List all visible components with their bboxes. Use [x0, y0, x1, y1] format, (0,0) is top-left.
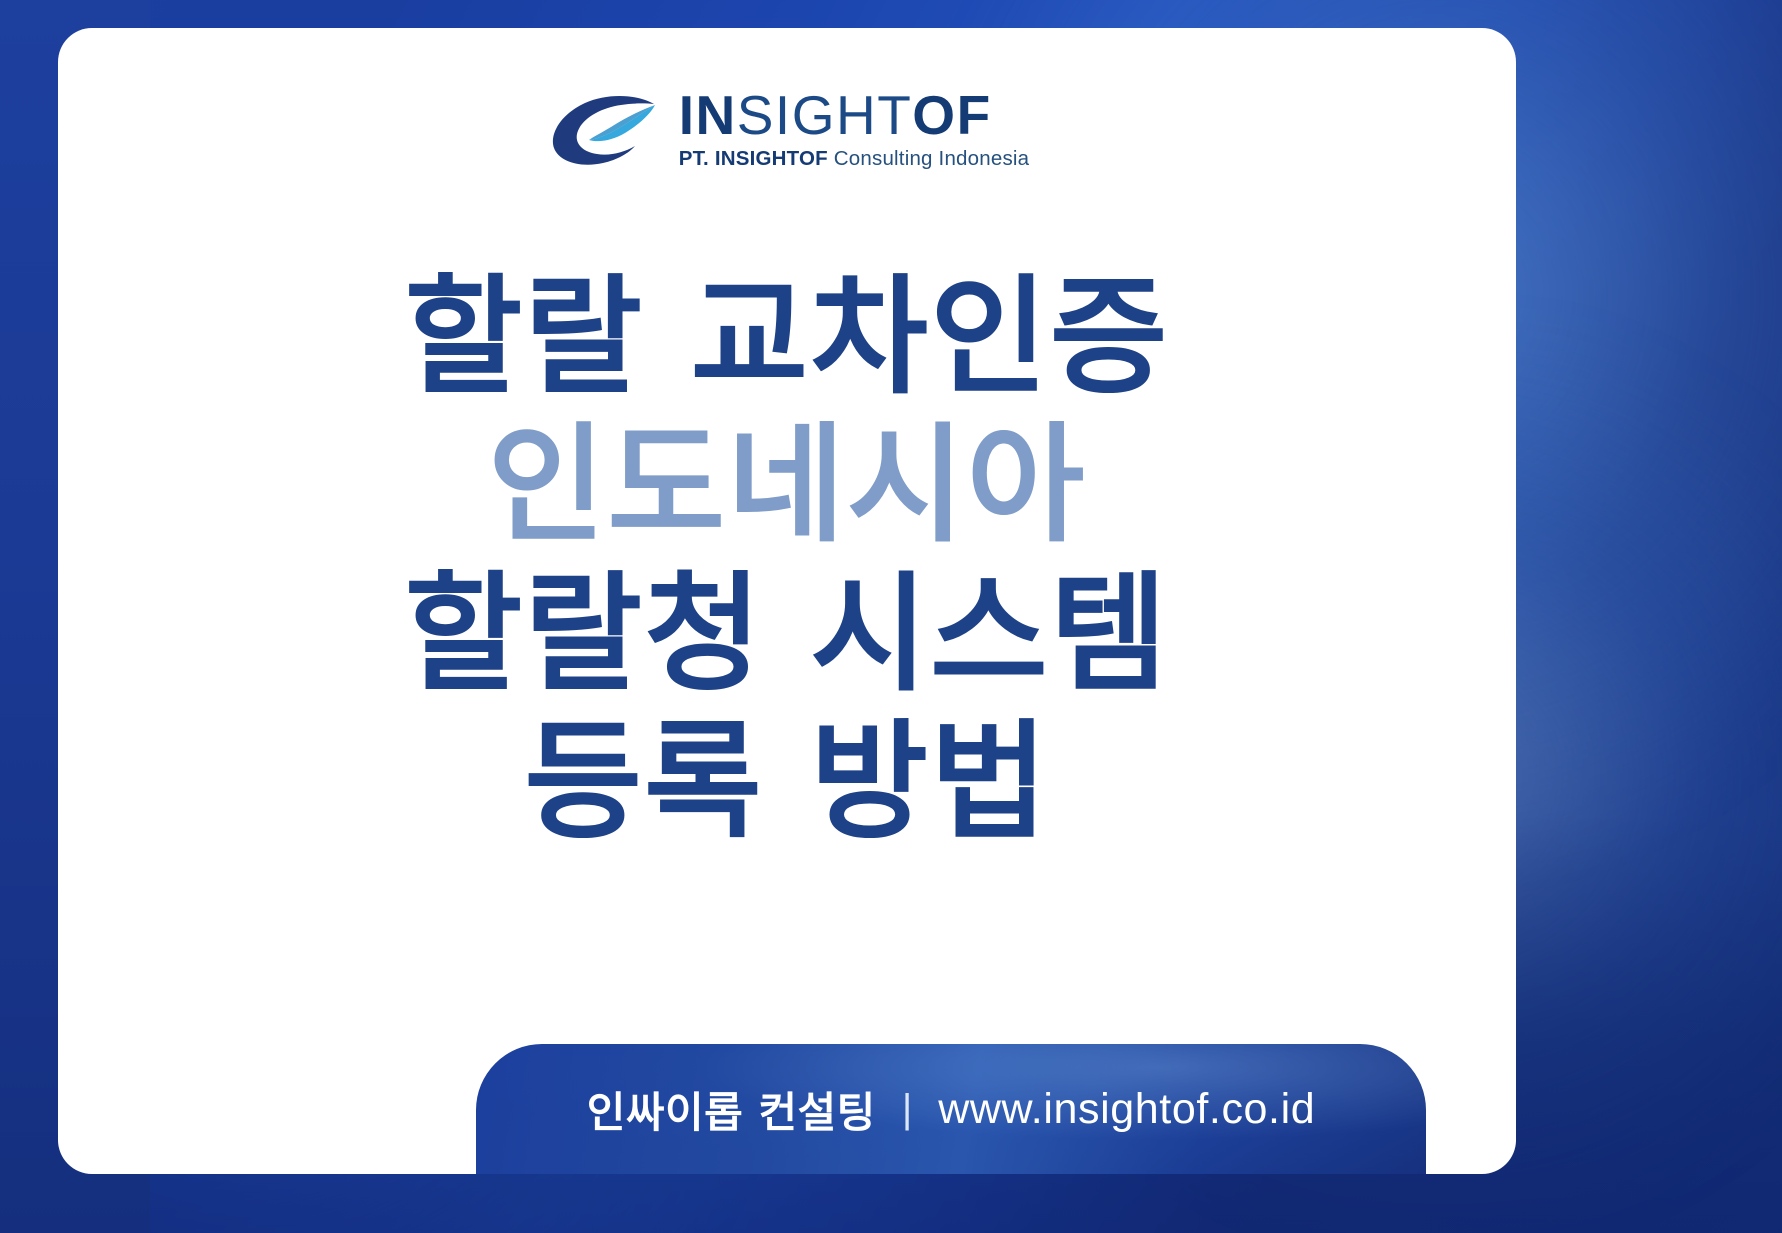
- footer-company-name: 인싸이롭 컨설팅: [587, 1079, 876, 1140]
- logo-tagline: PT. INSIGHTOF Consulting Indonesia: [679, 149, 1030, 170]
- headline-line-2: 인도네시아: [58, 412, 1516, 560]
- poster-canvas: INSIGHTOF PT. INSIGHTOF Consulting Indon…: [0, 0, 1782, 1233]
- headline-line-3: 할랄청 시스템: [58, 561, 1516, 709]
- leaf-swoosh-icon: [545, 86, 663, 172]
- brand-logo: INSIGHTOF PT. INSIGHTOF Consulting Indon…: [58, 86, 1516, 172]
- logo-wordmark: INSIGHTOF: [679, 88, 992, 143]
- logo-word-in: IN: [679, 84, 737, 146]
- logo-word-of: OF: [912, 84, 991, 146]
- footer-website-url[interactable]: www.insightof.co.id: [938, 1085, 1315, 1134]
- logo-tagline-strong: PT. INSIGHTOF: [679, 147, 828, 170]
- headline-line-1: 할랄 교차인증: [58, 264, 1516, 412]
- headline-line-4: 등록 방법: [58, 709, 1516, 857]
- content-card: INSIGHTOF PT. INSIGHTOF Consulting Indon…: [58, 28, 1516, 1174]
- logo-word-sight: SIGHT: [737, 84, 913, 146]
- footer-separator: |: [902, 1089, 912, 1129]
- footer-bar: 인싸이롭 컨설팅 | www.insightof.co.id: [476, 1044, 1426, 1174]
- logo-tagline-light: Consulting Indonesia: [834, 147, 1029, 170]
- headline-block: 할랄 교차인증 인도네시아 할랄청 시스템 등록 방법: [58, 264, 1516, 858]
